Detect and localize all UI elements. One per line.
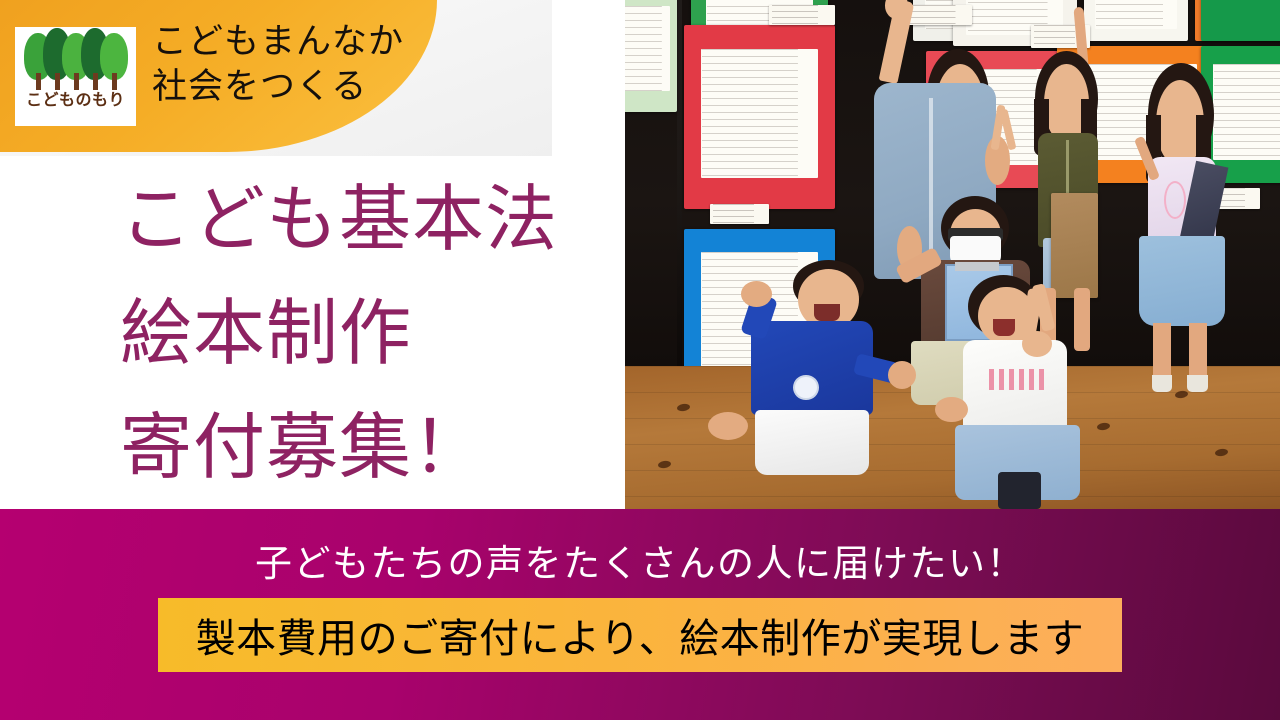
photo-content <box>625 0 1280 509</box>
poster-nametag <box>769 5 835 25</box>
tagline-line-2: 社会をつくる <box>152 65 442 110</box>
header-tagline: こどもまんなか 社会をつくる <box>152 20 442 110</box>
child-blue-soccer-jersey <box>704 265 940 499</box>
poster-nametag <box>710 204 769 224</box>
bottom-banner: 子どもたちの声をたくさんの人に届けたい！ 製本費用のご寄付により、絵本制作が実現… <box>0 509 1280 720</box>
left-content-column: こどものもり こどもまんなか 社会をつくる こども基本法 絵本制作 寄付募集！ <box>0 0 625 509</box>
poster-title: こども基本法 絵本制作 寄付募集！ <box>120 163 620 504</box>
wall-poster <box>684 25 835 208</box>
title-line-1: こども基本法 <box>120 163 620 277</box>
wall-poster <box>1201 0 1280 41</box>
donation-callout-box: 製本費用のご寄付により、絵本制作が実現します <box>158 598 1122 672</box>
tagline-line-1: こどもまんなか <box>152 20 442 65</box>
child-white-tee-peace-sign <box>946 275 1162 509</box>
group-photo <box>625 0 1280 509</box>
wall-poster <box>1084 0 1189 41</box>
title-line-3: 寄付募集！ <box>120 391 620 505</box>
poster-root: こどものもり こどもまんなか 社会をつくる こども基本法 絵本制作 寄付募集！ … <box>0 0 1280 720</box>
wall-poster <box>625 0 677 112</box>
header-panel: こどものもり こどもまんなか 社会をつくる <box>0 0 552 156</box>
forest-trees-icon <box>24 32 128 90</box>
logo-caption: こどものもり <box>26 92 125 108</box>
kodomonomori-logo: こどものもり <box>15 27 136 126</box>
banner-headline: 子どもたちの声をたくさんの人に届けたい！ <box>0 533 1280 587</box>
title-line-2: 絵本制作 <box>120 277 620 391</box>
donation-callout-text: 製本費用のご寄付により、絵本制作が実現します <box>196 606 1085 664</box>
